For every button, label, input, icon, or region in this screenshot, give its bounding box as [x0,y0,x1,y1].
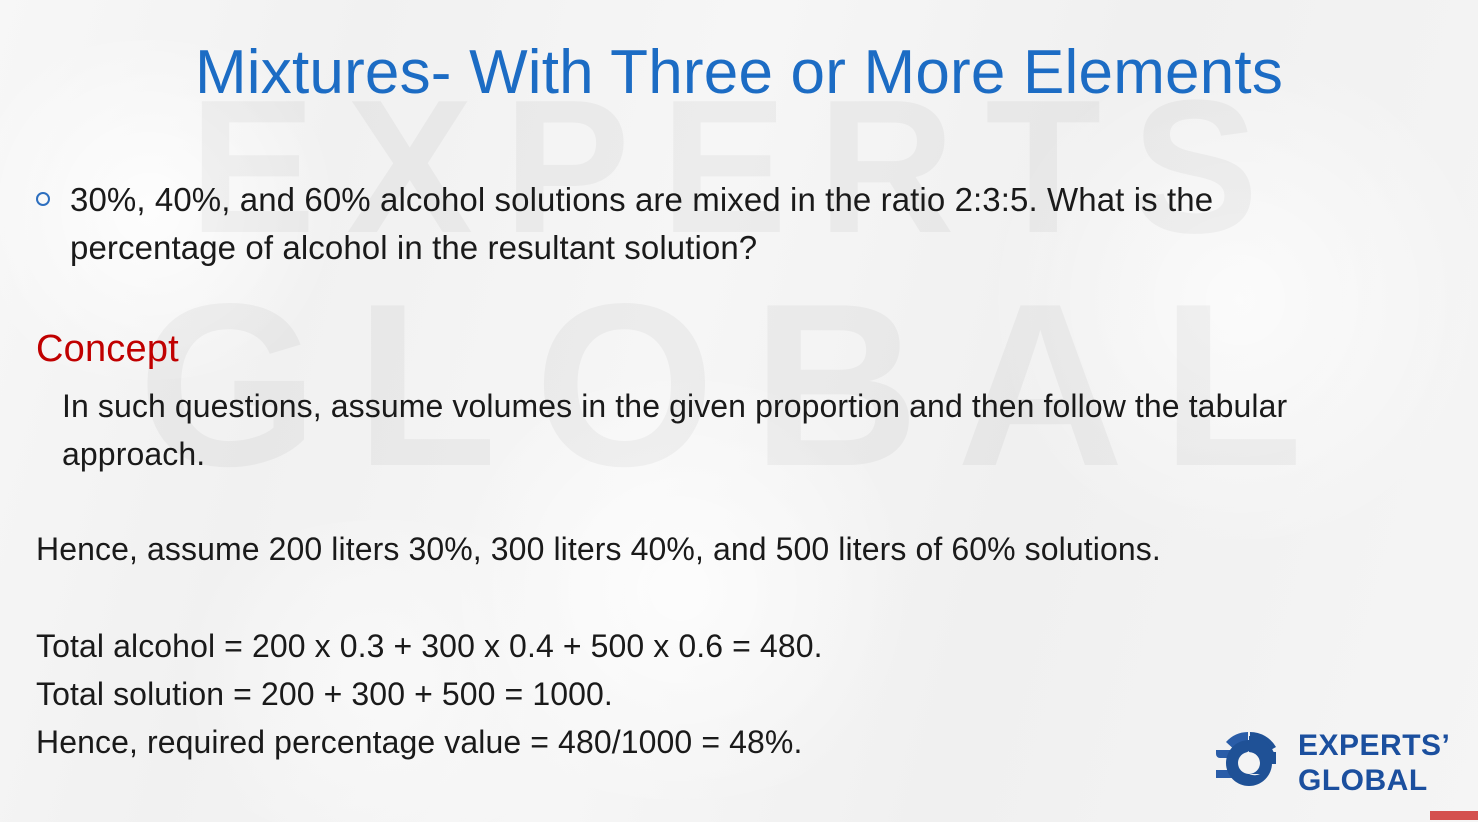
experts-global-logo: EXPERTS’ GLOBAL [1212,722,1464,804]
logo-text-experts: EXPERTS’ [1298,731,1464,761]
hollow-circle-bullet-icon [36,176,70,210]
slide-content: Mixtures- With Three or More Elements 30… [0,0,1478,822]
concept-heading: Concept [36,324,179,374]
calculation-line: Hence, required percentage value = 480/1… [36,718,1136,766]
logo-wordmark: EXPERTS’ GLOBAL [1298,731,1464,796]
question-text: 30%, 40%, and 60% alcohol solutions are … [70,176,1366,272]
logo-text-global: GLOBAL [1298,766,1464,796]
calculation-line: Total alcohol = 200 x 0.3 + 300 x 0.4 + … [36,622,1136,670]
question-bullet-item: 30%, 40%, and 60% alcohol solutions are … [36,176,1366,272]
slide-canvas: EXPERTS GLOBAL Mixtures- With Three or M… [0,0,1478,822]
concept-body-text: In such questions, assume volumes in the… [62,382,1362,478]
calculation-line: Total solution = 200 + 300 + 500 = 1000. [36,670,1136,718]
slide-title: Mixtures- With Three or More Elements [0,36,1478,110]
bullet-circle-shape [36,192,50,206]
assumption-text: Hence, assume 200 liters 30%, 300 liters… [36,526,1436,572]
experts-global-g-mark-icon [1212,726,1286,800]
corner-accent-bar [1430,811,1478,820]
calculation-block: Total alcohol = 200 x 0.3 + 300 x 0.4 + … [36,622,1136,766]
